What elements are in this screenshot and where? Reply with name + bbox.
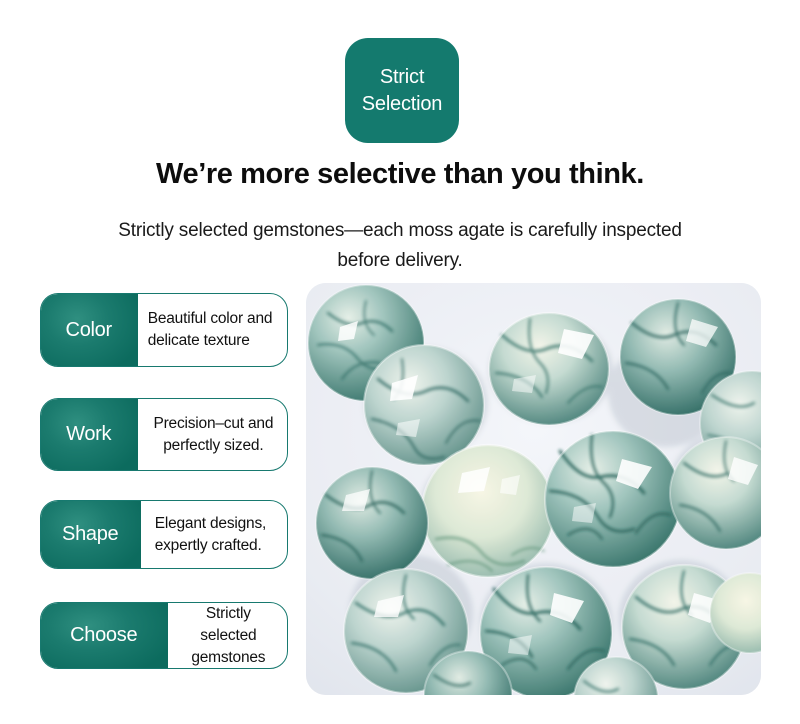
page-subtitle: Strictly selected gemstones—each moss ag… (100, 216, 700, 276)
promo-page: Strict Selection We’re more selective th… (0, 0, 800, 724)
page-title: We’re more selective than you think. (0, 158, 800, 191)
feature-description-choose: Strictly selected gemstones (168, 603, 287, 668)
badge-line-2: Selection (362, 91, 442, 118)
gemstone-illustration (306, 283, 761, 695)
feature-card-choose: Choose Strictly selected gemstones (40, 602, 288, 669)
feature-label-choose: Choose (40, 602, 168, 669)
feature-label-work: Work (40, 398, 138, 471)
feature-card-color: Color Beautiful color and delicate textu… (40, 293, 288, 367)
feature-description-color: Beautiful color and delicate texture (138, 294, 287, 366)
moss-agate-photo (306, 283, 761, 695)
strict-selection-badge: Strict Selection (345, 38, 459, 143)
badge-line-1: Strict (380, 64, 424, 91)
feature-description-work: Precision–cut and perfectly sized. (138, 399, 287, 470)
feature-card-work: Work Precision–cut and perfectly sized. (40, 398, 288, 471)
feature-description-shape: Elegant designs, expertly crafted. (141, 501, 287, 568)
feature-card-shape: Shape Elegant designs, expertly crafted. (40, 500, 288, 569)
feature-label-color: Color (40, 293, 138, 367)
feature-label-shape: Shape (40, 500, 141, 569)
